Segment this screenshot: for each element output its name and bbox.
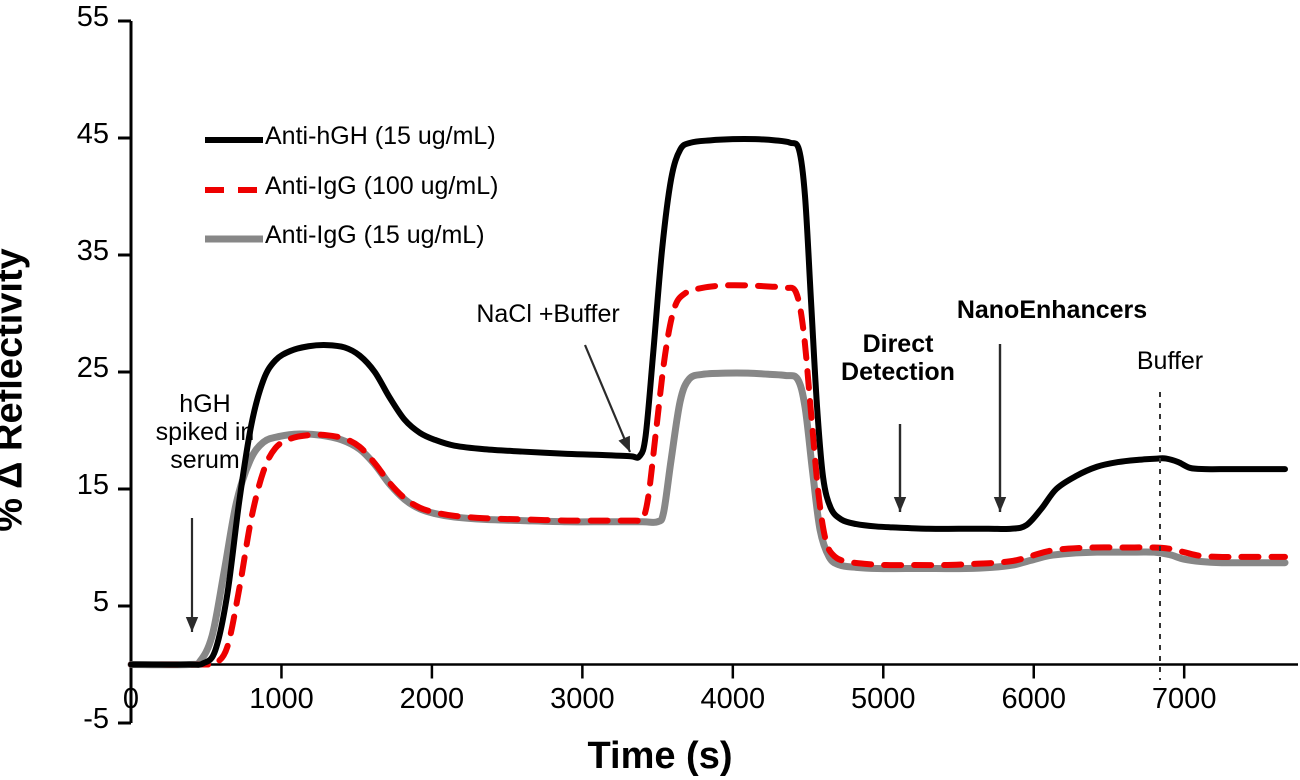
x-axis-title: Time (s) [587, 735, 732, 778]
legend-label: Anti-hGH (15 ug/mL) [265, 122, 496, 151]
chart-canvas: % Δ Reflectivity Time (s) -5515253545550… [0, 0, 1300, 780]
x-axis-tick-label: 3000 [550, 683, 615, 716]
annotation-hgh-spiked: hGHspiked inserum [156, 390, 255, 474]
y-axis-tick-label: 25 [77, 352, 109, 385]
annotation-buffer: Buffer [1137, 347, 1203, 375]
legend-label: Anti-IgG (100 ug/mL) [265, 172, 498, 201]
y-axis-tick-label: 55 [77, 1, 109, 34]
series-line [131, 373, 1285, 665]
annotation-nacl-buffer: NaCl +Buffer [476, 300, 619, 328]
x-axis-tick-label: 4000 [701, 683, 766, 716]
y-axis-title: % Δ Reflectivity [0, 180, 32, 600]
direct-detection-arrow [894, 424, 906, 512]
x-axis-tick-label: 6000 [1001, 683, 1066, 716]
series-line [131, 139, 1285, 665]
nacl-buffer-arrow [585, 345, 630, 452]
x-axis-tick-label: 2000 [400, 683, 465, 716]
y-axis-tick-label: 35 [77, 235, 109, 268]
y-axis-tick-label: -5 [83, 703, 109, 736]
y-axis-tick-label: 5 [93, 586, 109, 619]
y-axis-tick-label: 15 [77, 469, 109, 502]
series-line [131, 285, 1285, 665]
annotation-nanoenhancers: NanoEnhancers [957, 296, 1147, 324]
legend-label: Anti-IgG (15 ug/mL) [265, 221, 485, 250]
x-axis-tick-label: 1000 [249, 683, 314, 716]
x-axis-tick-label: 0 [123, 683, 139, 716]
hgh-spiked-arrow [186, 518, 198, 632]
y-axis-tick-label: 45 [77, 118, 109, 151]
x-axis-tick-label: 7000 [1152, 683, 1217, 716]
x-axis-tick-label: 5000 [851, 683, 916, 716]
annotation-direct-detection: DirectDetection [841, 330, 955, 386]
nanoenhancers-arrow [994, 344, 1006, 512]
